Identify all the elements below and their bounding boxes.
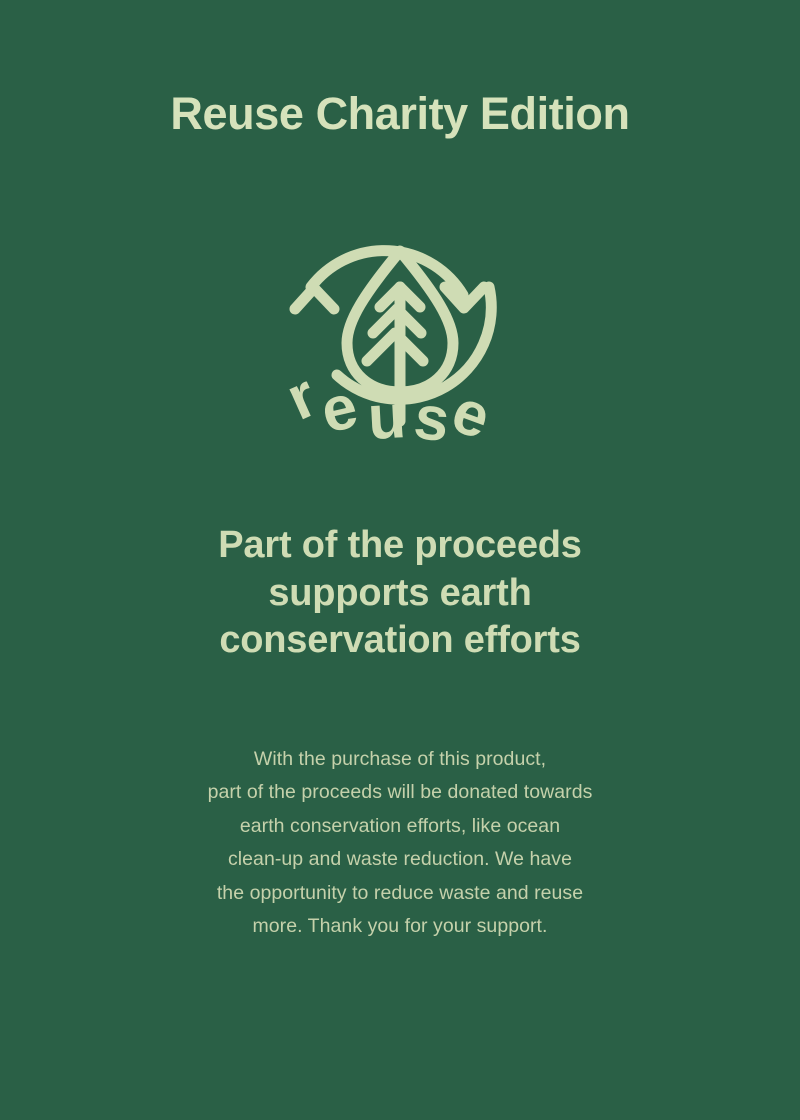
body-line-1: With the purchase of this product, — [208, 743, 593, 777]
bottom-arc-arrowhead-up — [295, 288, 334, 309]
body-line-6: more. Thank you for your support. — [208, 910, 593, 944]
headline-line-1: Part of the proceeds — [218, 522, 581, 570]
headline: Part of the proceeds supports earth cons… — [218, 522, 581, 665]
body-line-3: earth conservation efforts, like ocean — [208, 810, 593, 844]
body-line-2: part of the proceeds will be donated tow… — [208, 776, 593, 810]
headline-line-3: conservation efforts — [218, 617, 581, 665]
headline-line-2: supports earth — [218, 570, 581, 618]
body-line-5: the opportunity to reduce waste and reus… — [208, 877, 593, 911]
reuse-logo: r e u s e — [285, 225, 515, 440]
body-paragraph: With the purchase of this product, part … — [208, 743, 593, 944]
wordmark-letter-u: u — [366, 382, 407, 453]
body-line-4: clean-up and waste reduction. We have — [208, 843, 593, 877]
page-title: Reuse Charity Edition — [170, 90, 629, 137]
charity-edition-card: Reuse Charity Edition — [0, 0, 800, 1120]
reuse-recycle-leaf-icon: r e u s e — [285, 225, 515, 440]
